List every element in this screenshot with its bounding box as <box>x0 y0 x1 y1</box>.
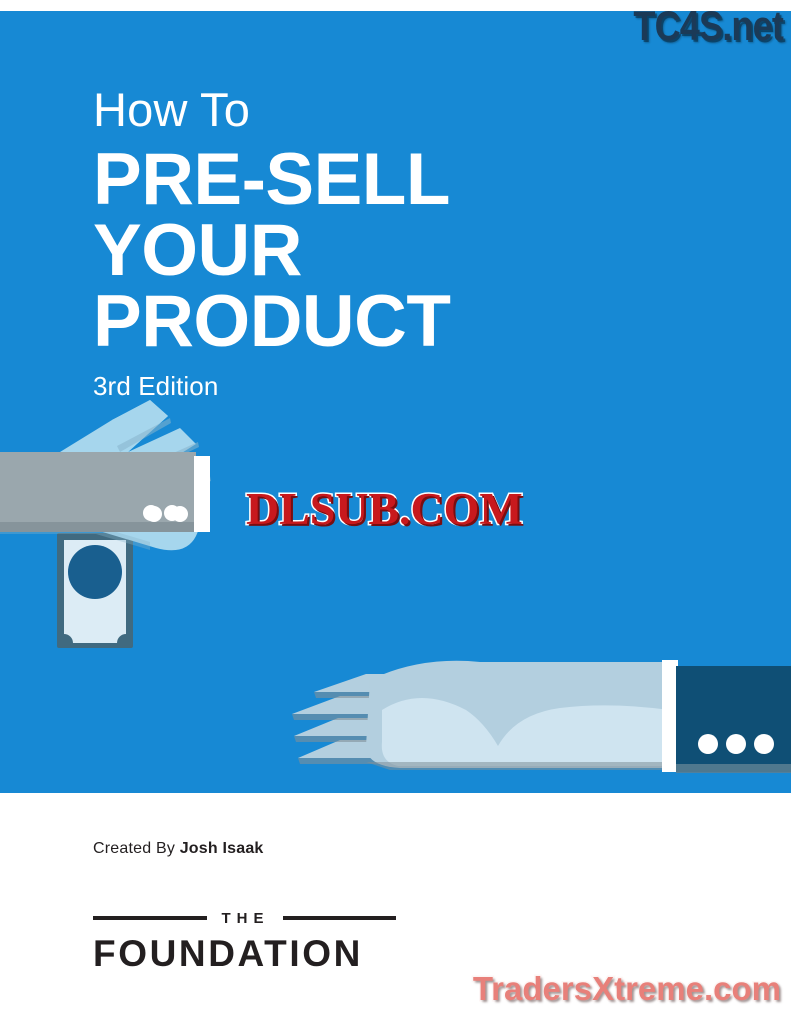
title-line-1: PRE-SELL <box>93 145 693 216</box>
title-line-3: PRODUCT <box>93 287 693 358</box>
foundation-logo: THE FOUNDATION <box>93 910 396 972</box>
watermark-tradersxtreme: TradersXtreme.com <box>473 970 781 1008</box>
title-block: How To PRE-SELL YOUR PRODUCT 3rd Edition <box>93 86 693 402</box>
logo-rule-left <box>93 916 207 920</box>
logo-rule-right <box>283 916 397 920</box>
navy-sleeve <box>662 660 791 773</box>
sleeve-button <box>698 734 718 754</box>
logo-the-label: THE <box>220 911 270 926</box>
open-palm-icon <box>292 661 670 770</box>
receiving-hand-illustration <box>270 650 791 795</box>
book-cover: How To PRE-SELL YOUR PRODUCT 3rd Edition <box>0 0 791 1024</box>
gray-sleeve <box>0 452 214 532</box>
sleeve-button <box>754 734 774 754</box>
watermark-dlsub: DLSUB.COM <box>246 483 523 535</box>
logo-top-row: THE <box>93 910 396 926</box>
logo-name-label: FOUNDATION <box>93 935 396 972</box>
sleeve-buttons <box>143 505 201 521</box>
credit-line: Created By Josh Isaak <box>93 840 264 858</box>
title-main: PRE-SELL YOUR PRODUCT <box>93 145 693 357</box>
watermark-tc4s: TC4S.net <box>633 2 783 50</box>
sleeve-button <box>726 734 746 754</box>
title-kicker: How To <box>93 86 693 133</box>
credit-prefix: Created By <box>93 840 175 857</box>
author-name: Josh Isaak <box>180 840 264 857</box>
title-line-2: YOUR <box>93 216 693 287</box>
